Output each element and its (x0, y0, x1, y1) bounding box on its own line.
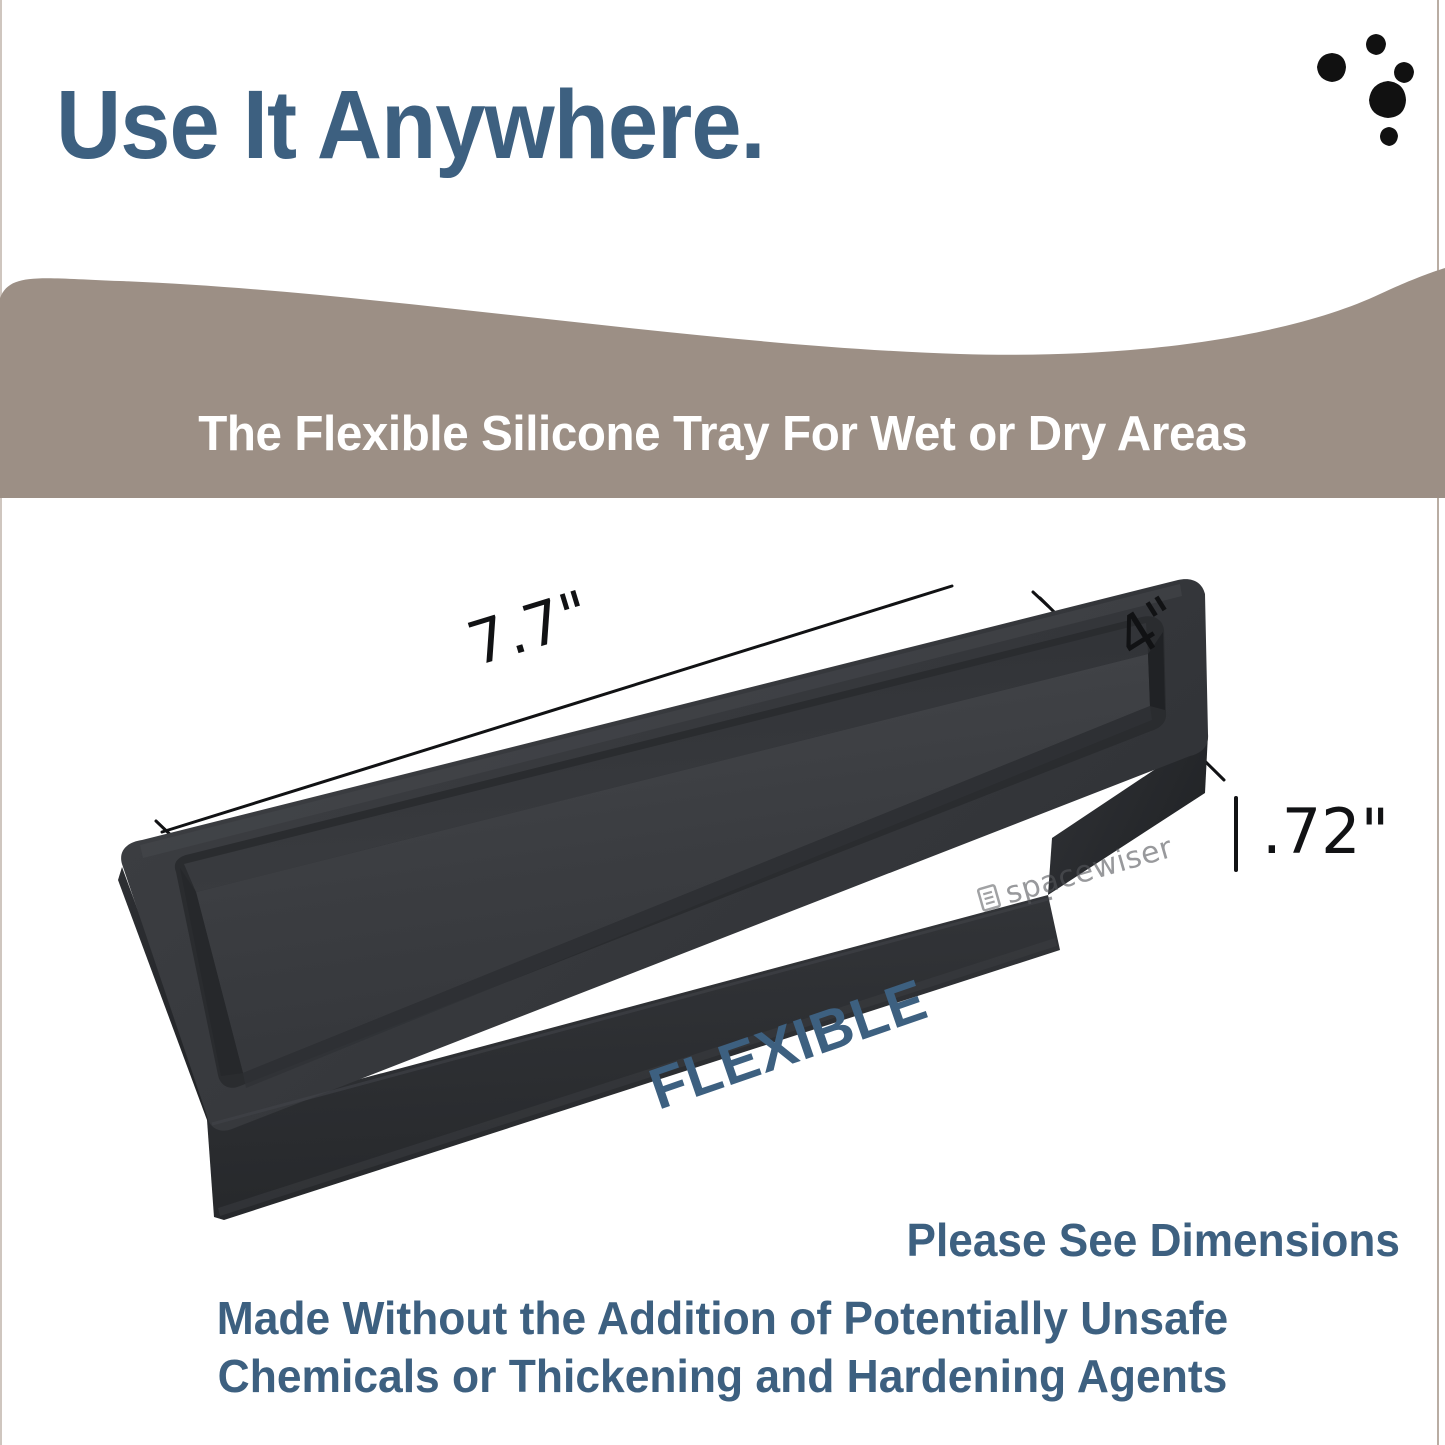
safety-claim-line-1: Made Without the Addition of Potentially… (25, 1290, 1419, 1348)
spacewiser-logo-icon (978, 885, 1000, 911)
dimension-label-height: .72" (1262, 795, 1389, 868)
product-scene: spacewiser (0, 520, 1445, 1280)
page-headline: Use It Anywhere. (56, 76, 765, 173)
see-dimensions-note: Please See Dimensions (907, 1213, 1400, 1267)
decorative-dots (1300, 30, 1430, 160)
safety-claim: Made Without the Addition of Potentially… (0, 1290, 1445, 1405)
product-marketing-image: Use It Anywhere. The Flexible Silicone T… (0, 0, 1445, 1445)
safety-claim-line-2: Chemicals or Thickening and Hardening Ag… (25, 1348, 1419, 1406)
subtitle-band (0, 258, 1445, 498)
